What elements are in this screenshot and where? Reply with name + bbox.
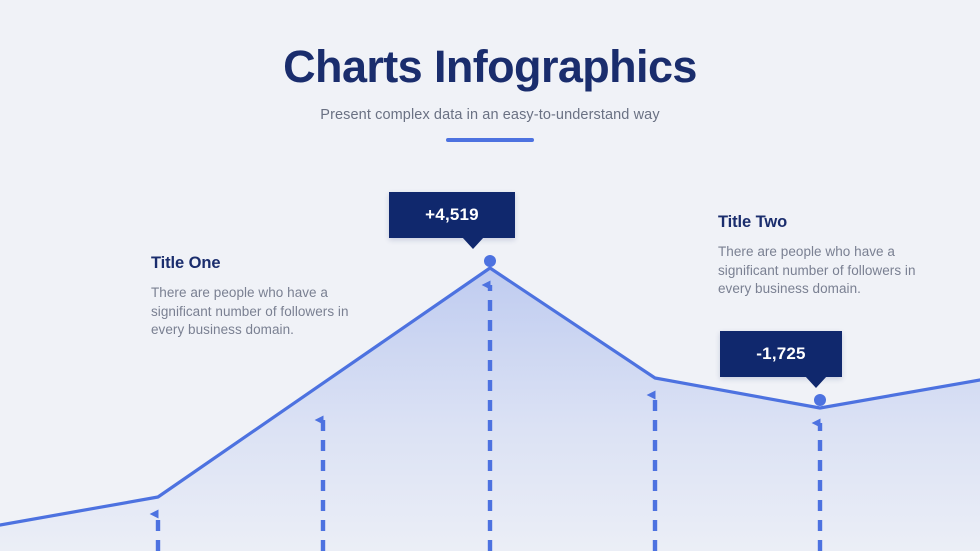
- value-callout-trough[interactable]: -1,725: [720, 331, 842, 377]
- value-callout-trough-label: -1,725: [756, 344, 805, 364]
- text-block-two: Title Two There are people who have a si…: [718, 212, 948, 299]
- data-point-marker-peak[interactable]: [484, 255, 496, 267]
- text-block-one: Title One There are people who have a si…: [151, 253, 383, 340]
- text-block-two-body: There are people who have a significant …: [718, 232, 948, 299]
- value-callout-peak[interactable]: +4,519: [389, 192, 515, 238]
- text-block-two-title: Title Two: [718, 212, 948, 232]
- text-block-one-body: There are people who have a significant …: [151, 273, 383, 340]
- data-point-marker-trough[interactable]: [814, 394, 826, 406]
- callout-pointer-icon: [805, 376, 827, 388]
- text-block-one-title: Title One: [151, 253, 383, 273]
- callout-pointer-icon: [462, 237, 484, 249]
- infographic-canvas: Charts Infographics Present complex data…: [0, 0, 980, 551]
- value-callout-peak-label: +4,519: [425, 205, 479, 225]
